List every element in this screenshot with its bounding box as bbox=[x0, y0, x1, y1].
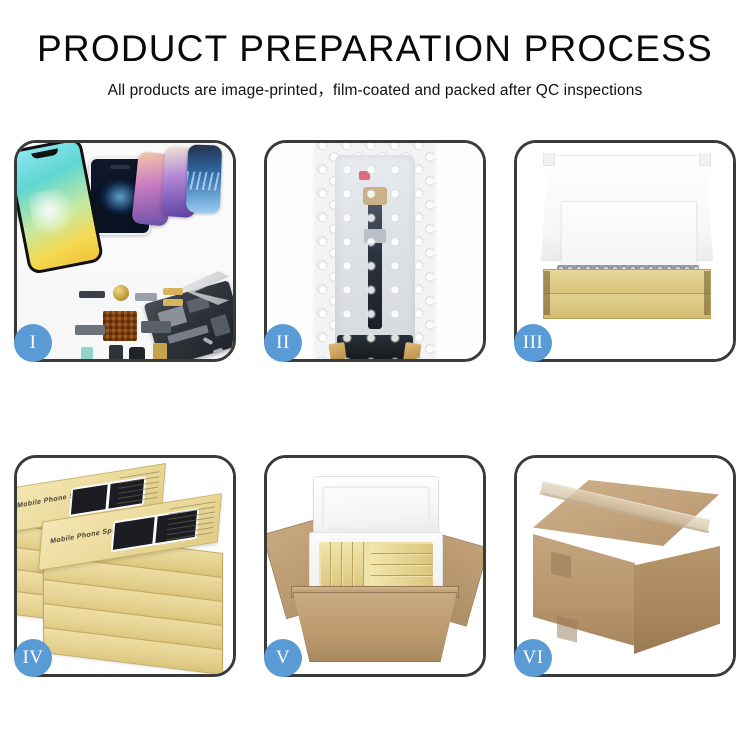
sealed-carton-illustration bbox=[517, 458, 733, 674]
box-spec-lines bbox=[117, 471, 160, 508]
panel-2-image bbox=[267, 143, 483, 359]
carton-with-foam-illustration bbox=[267, 458, 483, 674]
component-strip-icon bbox=[79, 291, 105, 298]
box-phone-image bbox=[111, 515, 157, 552]
component-strip-icon bbox=[141, 321, 171, 333]
panel-1-image bbox=[17, 143, 233, 359]
gold-contact-icon bbox=[328, 342, 347, 359]
process-panel-1: I bbox=[14, 140, 236, 362]
styrofoam-lid bbox=[313, 476, 439, 540]
page-header: PRODUCT PREPARATION PROCESS All products… bbox=[0, 0, 750, 100]
carton-corner-tab bbox=[551, 552, 571, 579]
flex-cable-icon bbox=[368, 201, 382, 329]
panel-badge-2: II bbox=[264, 324, 302, 362]
panel-3-image bbox=[517, 143, 733, 359]
component-strip-icon bbox=[75, 325, 105, 335]
phone-parts-illustration bbox=[17, 143, 233, 359]
camera-module-icon bbox=[109, 345, 123, 359]
process-panel-5: V bbox=[264, 455, 486, 677]
flex-connector-icon bbox=[163, 288, 183, 295]
packed-box bbox=[371, 544, 433, 554]
stacked-boxes-illustration: Mobile Phone Spare Parts Mobile Phone Sp… bbox=[17, 458, 233, 674]
panel-badge-6: VI bbox=[514, 639, 552, 677]
board-chip bbox=[167, 325, 208, 344]
bubble-wrap-bag bbox=[316, 143, 434, 359]
page-subtitle: All products are image-printed，film-coat… bbox=[0, 78, 750, 100]
carton-side-face bbox=[634, 546, 720, 654]
process-panel-6: VI bbox=[514, 455, 736, 677]
phone-display-blue-icon bbox=[186, 144, 222, 213]
component-strip-icon bbox=[135, 293, 157, 301]
process-panel-4: Mobile Phone Spare Parts Mobile Phone Sp… bbox=[14, 455, 236, 677]
box-spec-lines bbox=[166, 502, 215, 543]
bubble-wrapped-screen-illustration bbox=[267, 143, 483, 359]
process-panel-2: II bbox=[264, 140, 486, 362]
speaker-coil-icon bbox=[113, 285, 129, 301]
lid-notch-right bbox=[699, 153, 711, 166]
packed-box bbox=[371, 566, 433, 576]
carton-corner-tab bbox=[557, 616, 577, 643]
process-panel-3: III bbox=[514, 140, 736, 362]
camera-module-icon bbox=[129, 347, 145, 359]
gold-contact-icon bbox=[402, 342, 421, 359]
driver-ic-icon bbox=[337, 335, 413, 359]
tray-edge-left bbox=[544, 271, 550, 315]
page-title: PRODUCT PREPARATION PROCESS bbox=[0, 30, 750, 69]
carton-body bbox=[293, 592, 457, 662]
panel-4-image: Mobile Phone Spare Parts Mobile Phone Sp… bbox=[17, 458, 233, 674]
foam-sheet bbox=[561, 201, 697, 275]
panel-badge-3: III bbox=[514, 324, 552, 362]
kraft-box-front bbox=[543, 293, 711, 319]
process-panel-grid: I II bbox=[14, 140, 736, 677]
panel-5-image bbox=[267, 458, 483, 674]
open-box-illustration bbox=[517, 143, 733, 359]
battery-connector-icon bbox=[153, 343, 167, 359]
packed-box bbox=[371, 555, 433, 565]
panel-6-image bbox=[517, 458, 733, 674]
qc-sticker-icon bbox=[359, 171, 370, 180]
panel-badge-5: V bbox=[264, 639, 302, 677]
panel-badge-1: I bbox=[14, 324, 52, 362]
flex-connector-icon bbox=[163, 299, 183, 306]
board-chip bbox=[210, 314, 231, 337]
sim-tray-icon bbox=[81, 347, 93, 359]
screw-grid-icon bbox=[103, 311, 137, 341]
panel-badge-4: IV bbox=[14, 639, 52, 677]
lid-notch-left bbox=[543, 153, 555, 166]
carton-front-face bbox=[533, 534, 635, 646]
tray-edge-right bbox=[704, 271, 710, 315]
